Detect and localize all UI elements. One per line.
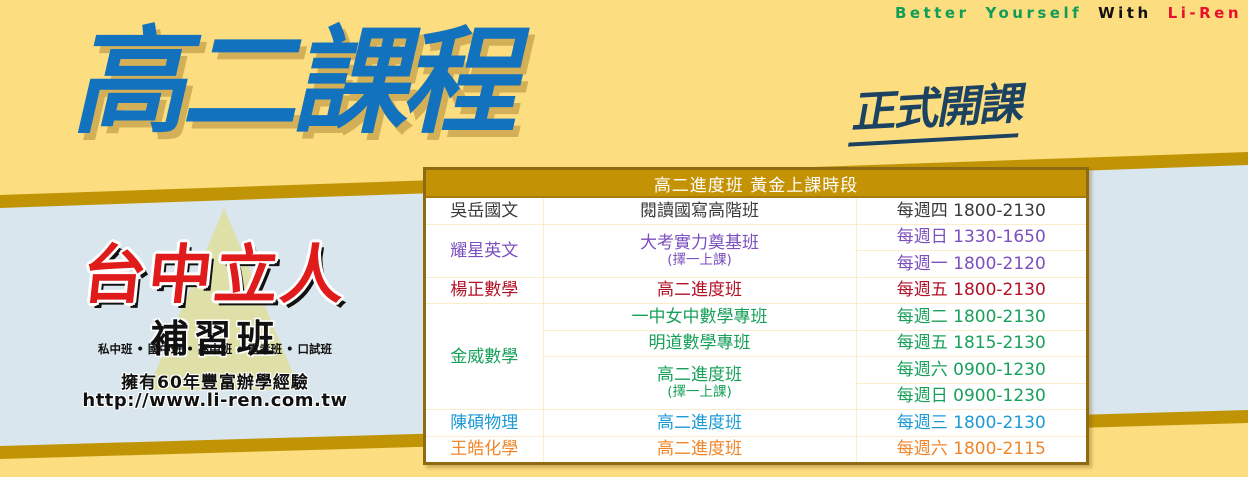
teacher-cell: 王皓化學 [426,436,543,462]
teacher-cell: 金威數學 [426,304,543,410]
class-time-cell: 每週五 1815-2130 [856,330,1086,357]
class-time-cell: 每週四 1800-2130 [856,197,1086,224]
page-title: 高二課程 [65,18,535,148]
class-name-cell: 高二進度班 [543,436,856,462]
table-row: 耀星英文大考實力奠基班(擇一上課)每週日 1330-1650 [426,224,1086,251]
page-subtitle: 正式開課 [848,67,1030,146]
schedule-table-head: 高二進度班 黃金上課時段 [426,170,1086,197]
table-row: 金威數學一中女中數學專班每週二 1800-2130 [426,304,1086,331]
schedule-table-body: 吳岳國文閱讀國寫高階班每週四 1800-2130耀星英文大考實力奠基班(擇一上課… [426,197,1086,462]
class-time-cell: 每週日 0900-1230 [856,383,1086,410]
class-name-cell: 大考實力奠基班(擇一上課) [543,224,856,277]
logo-course-list: 私中班 • 國中班 • 高中班 • 重考班 • 口試班 [40,341,390,357]
class-name-cell: 高二進度班(擇一上課) [543,357,856,410]
schedule-table-container: 高二進度班 黃金上課時段 吳岳國文閱讀國寫高階班每週四 1800-2130耀星英… [423,167,1089,465]
class-time-cell: 每週五 1800-2130 [856,277,1086,304]
promo-banner: Better Yourself With Li-Ren 高二課程 正式開課 台中… [0,0,1248,477]
logo-website-url: http://www.li-ren.com.tw [40,390,390,411]
class-note: (擇一上課) [546,385,854,401]
tagline: Better Yourself With Li-Ren [628,1,1246,25]
class-time-cell: 每週六 0900-1230 [856,357,1086,384]
table-row: 王皓化學高二進度班每週六 1800-2115 [426,436,1086,462]
schedule-table: 高二進度班 黃金上課時段 吳岳國文閱讀國寫高階班每週四 1800-2130耀星英… [426,170,1086,462]
class-note: (擇一上課) [546,253,854,269]
logo-school-name: 台中立人 [35,224,395,316]
tagline-word: With [1098,4,1152,22]
table-header-row: 高二進度班 黃金上課時段 [426,170,1086,197]
tagline-word: Yourself [985,4,1082,22]
tagline-word: Better [895,4,970,22]
class-time-cell: 每週六 1800-2115 [856,436,1086,462]
class-time-cell: 每週三 1800-2130 [856,410,1086,437]
class-name-cell: 明道數學專班 [543,330,856,357]
teacher-cell: 吳岳國文 [426,197,543,224]
schedule-header-title: 高二進度班 黃金上課時段 [426,170,1086,197]
table-row: 吳岳國文閱讀國寫高階班每週四 1800-2130 [426,197,1086,224]
class-name-cell: 閱讀國寫高階班 [543,197,856,224]
class-name-cell: 高二進度班 [543,410,856,437]
teacher-cell: 楊正數學 [426,277,543,304]
tagline-word: Li-Ren [1168,4,1242,22]
class-time-cell: 每週日 1330-1650 [856,224,1086,251]
class-name-cell: 一中女中數學專班 [543,304,856,331]
table-row: 楊正數學高二進度班每週五 1800-2130 [426,277,1086,304]
table-row: 陳碩物理高二進度班每週三 1800-2130 [426,410,1086,437]
class-time-cell: 每週一 1800-2120 [856,251,1086,278]
class-time-cell: 每週二 1800-2130 [856,304,1086,331]
school-logo[interactable]: 台中立人 補習班 私中班 • 國中班 • 高中班 • 重考班 • 口試班 擁有6… [40,198,420,418]
teacher-cell: 陳碩物理 [426,410,543,437]
teacher-cell: 耀星英文 [426,224,543,277]
class-name-cell: 高二進度班 [543,277,856,304]
